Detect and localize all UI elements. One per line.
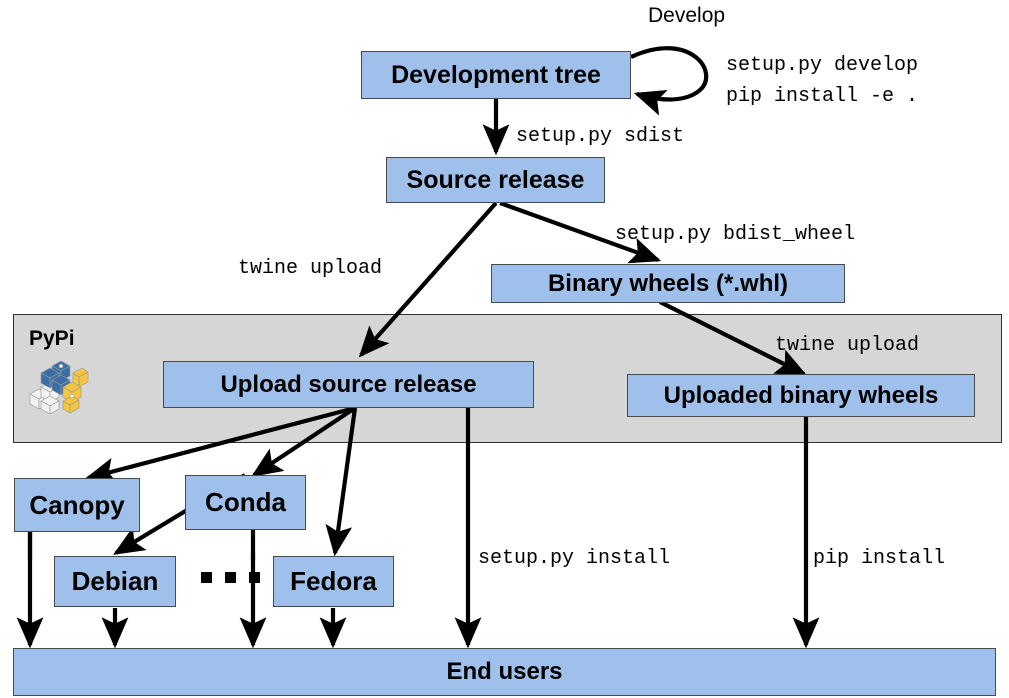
edge-develop-selfloop [631, 48, 706, 99]
edge-label-setup-sdist: setup.py sdist [516, 123, 684, 150]
node-source-release-label: Source release [407, 166, 585, 195]
node-end-users[interactable]: End users [13, 648, 996, 696]
diagram-canvas: PyPi [0, 0, 1009, 698]
node-canopy[interactable]: Canopy [14, 478, 140, 532]
node-end-users-label: End users [446, 658, 562, 686]
node-fedora[interactable]: Fedora [273, 556, 394, 607]
node-canopy-label: Canopy [29, 490, 124, 521]
node-conda[interactable]: Conda [185, 475, 306, 530]
edge-label-pip-install: pip install [813, 545, 945, 572]
node-fedora-label: Fedora [290, 566, 377, 597]
node-conda-label: Conda [205, 487, 286, 518]
ellipsis-more-distros [201, 572, 260, 583]
node-binary-wheels[interactable]: Binary wheels (*.whl) [491, 264, 845, 303]
node-development-tree[interactable]: Development tree [361, 51, 631, 99]
edge-label-setup-develop: setup.py develop [726, 52, 918, 79]
node-development-tree-label: Development tree [391, 61, 601, 90]
node-upload-source-release[interactable]: Upload source release [163, 361, 534, 408]
edge-label-setup-bdist-wheel: setup.py bdist_wheel [615, 221, 855, 248]
node-binary-wheels-label: Binary wheels (*.whl) [548, 270, 788, 298]
node-uploaded-binary-wheels[interactable]: Uploaded binary wheels [627, 374, 975, 417]
ellipsis-dot [249, 572, 260, 583]
pypi-panel-label: PyPi [29, 327, 75, 351]
node-upload-source-release-label: Upload source release [220, 371, 476, 399]
edge-label-twine-upload-wheels: twine upload [775, 332, 919, 359]
ellipsis-dot [201, 572, 212, 583]
edge-label-twine-upload-source: twine upload [238, 255, 382, 282]
edge-label-pip-install-editable: pip install -e . [726, 83, 918, 110]
node-uploaded-binary-wheels-label: Uploaded binary wheels [664, 382, 939, 410]
node-source-release[interactable]: Source release [386, 157, 605, 203]
node-debian-label: Debian [72, 566, 159, 597]
ellipsis-dot [225, 572, 236, 583]
edge-label-develop: Develop [648, 4, 725, 28]
node-debian[interactable]: Debian [54, 556, 176, 607]
edge-label-setup-install: setup.py install [478, 545, 670, 572]
